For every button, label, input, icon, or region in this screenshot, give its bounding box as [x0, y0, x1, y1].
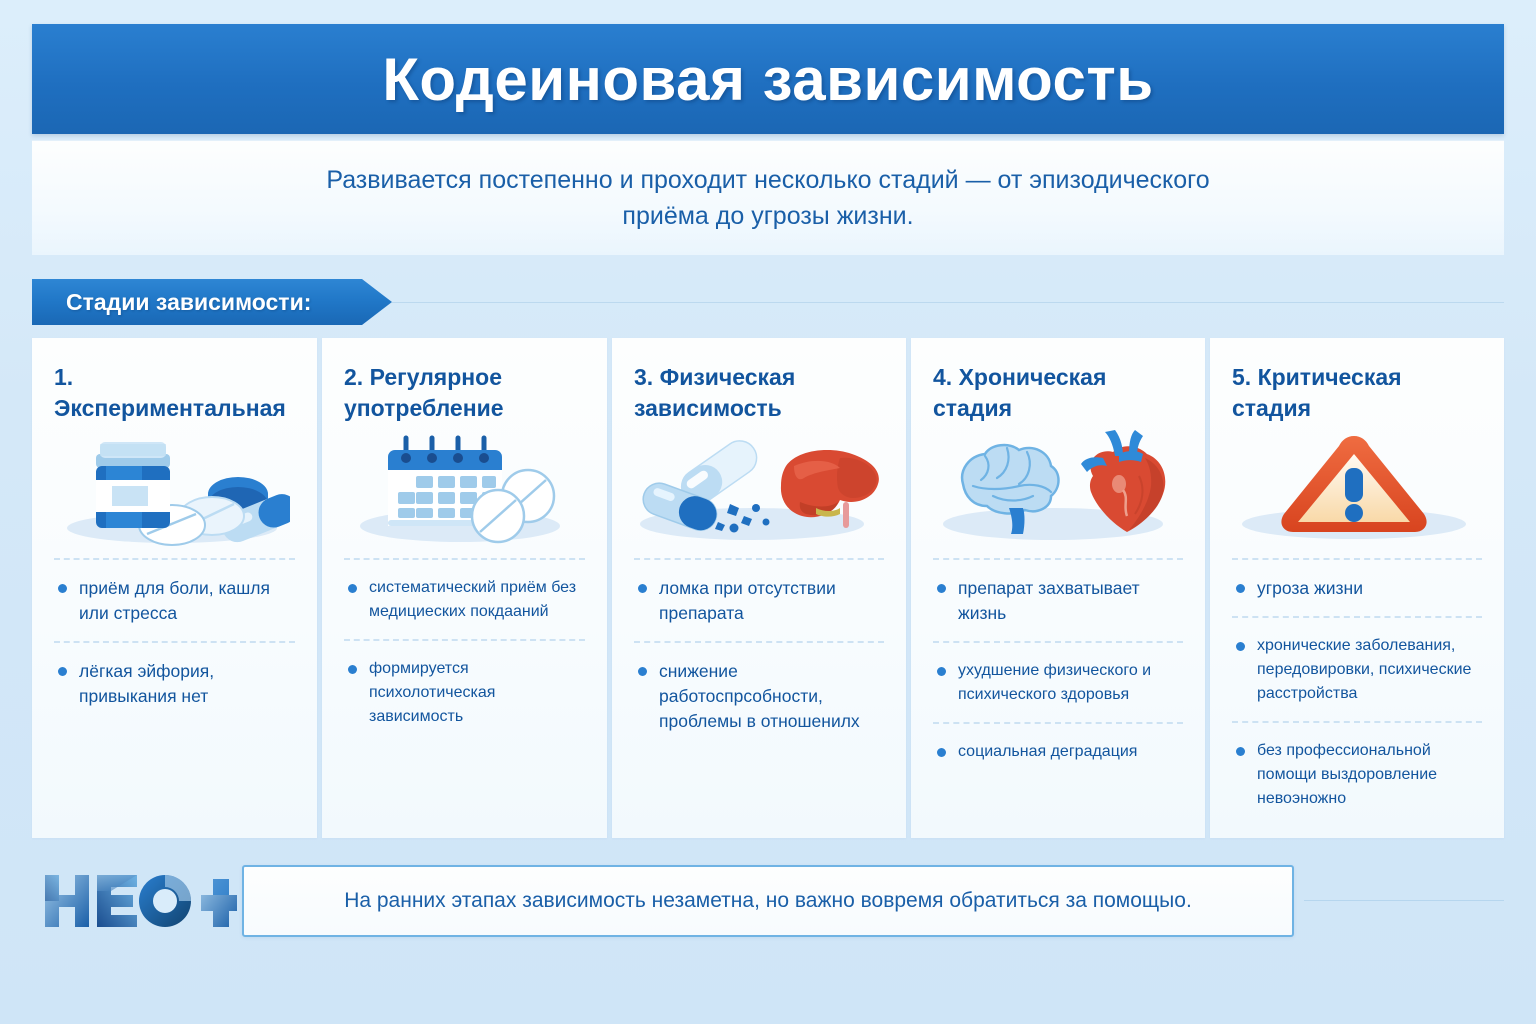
section-tab-container: Стадии зависимости: [32, 279, 1504, 325]
list-item: угроза жизни [1232, 558, 1482, 616]
list-item: систематический приём без медициеских по… [344, 558, 585, 639]
bullet-text: без профессиональной помощи выздоровлени… [1257, 739, 1482, 811]
stages-card-row: 1. Экспериментальная [32, 338, 1504, 838]
pill-bottle-icon [54, 428, 295, 546]
list-item: ухудшение физического и психического здо… [933, 641, 1183, 722]
bullet-dot-icon [937, 748, 946, 757]
bullet-text: формируется психолотическая зависимость [369, 657, 585, 729]
stage-card-3: 3. Физическая зависимость [612, 338, 906, 838]
stage-card-5-bullets: угроза жизни хронические заболевания, пе… [1232, 558, 1482, 826]
stage-card-2-bullets: систематический приём без медициеских по… [344, 558, 585, 744]
footer-note-text: На ранних этапах зависимость незаметна, … [344, 889, 1192, 913]
footer-note-box: На ранних этапах зависимость незаметна, … [242, 865, 1294, 937]
bullet-text: препарат захватывает жизнь [958, 576, 1183, 626]
list-item: социальная деградация [933, 722, 1183, 779]
brand-logo [32, 865, 242, 937]
calendar-pills-icon [344, 428, 585, 546]
neo-plus-logo-icon [37, 865, 237, 937]
list-item: снижение работоспрсобности, проблемы в о… [634, 641, 884, 749]
subtitle-line-1: Развивается постепенно и проходит нескол… [326, 162, 1209, 198]
list-item: ломка при отсутствии препарата [634, 558, 884, 641]
footer: На ранних этапах зависимость незаметна, … [32, 848, 1504, 953]
stage-card-5-title: 5. Критическая стадия [1232, 362, 1482, 424]
subtitle-line-2: приёма до угрозы жизни. [622, 198, 913, 234]
page-title: Кодеиновая зависимость [382, 45, 1153, 114]
stage-card-2-title: 2. Регулярное употребление [344, 362, 585, 424]
bullet-text: угроза жизни [1257, 576, 1363, 601]
bullet-dot-icon [937, 584, 946, 593]
subtitle-panel: Развивается постепенно и проходит нескол… [32, 140, 1504, 255]
bullet-dot-icon [58, 667, 67, 676]
stage-card-2: 2. Регулярное употребление [322, 338, 607, 838]
header-banner: Кодеиновая зависимость [32, 24, 1504, 134]
list-item: лёгкая эйфория, привыкания нет [54, 641, 295, 724]
stage-card-1: 1. Экспериментальная [32, 338, 317, 838]
section-tab-stages: Стадии зависимости: [32, 279, 392, 325]
stage-card-5: 5. Критическая стадия [1210, 338, 1504, 838]
bullet-text: хронические заболевания, передовировки, … [1257, 634, 1482, 706]
bullet-dot-icon [348, 665, 357, 674]
stage-card-3-title: 3. Физическая зависимость [634, 362, 884, 424]
bullet-dot-icon [638, 584, 647, 593]
stage-card-1-bullets: приём для боли, кашля или стресса лёгкая… [54, 558, 295, 724]
list-item: формируется психолотическая зависимость [344, 639, 585, 744]
stage-card-4-bullets: препарат захватывает жизнь ухудшение физ… [933, 558, 1183, 779]
bullet-dot-icon [1236, 642, 1245, 651]
brain-heart-icon [933, 428, 1183, 546]
list-item: препарат захватывает жизнь [933, 558, 1183, 641]
bullet-dot-icon [1236, 584, 1245, 593]
footer-divider-rule [1304, 900, 1504, 901]
list-item: без профессиональной помощи выздоровлени… [1232, 721, 1482, 826]
section-divider-rule [392, 302, 1504, 303]
section-tab-label: Стадии зависимости: [66, 289, 311, 316]
bullet-dot-icon [937, 667, 946, 676]
bullet-text: приём для боли, кашля или стресса [79, 576, 295, 626]
bullet-dot-icon [58, 584, 67, 593]
stage-card-1-title: 1. Экспериментальная [54, 362, 295, 424]
bullet-text: лёгкая эйфория, привыкания нет [79, 659, 295, 709]
bullet-text: ухудшение физического и психического здо… [958, 659, 1183, 707]
bullet-text: снижение работоспрсобности, проблемы в о… [659, 659, 884, 734]
bullet-dot-icon [638, 667, 647, 676]
list-item: хронические заболевания, передовировки, … [1232, 616, 1482, 721]
stage-card-4: 4. Хроническая стадия [911, 338, 1205, 838]
bullet-dot-icon [348, 584, 357, 593]
list-item: приём для боли, кашля или стресса [54, 558, 295, 641]
bullet-dot-icon [1236, 747, 1245, 756]
stage-card-4-title: 4. Хроническая стадия [933, 362, 1183, 424]
bullet-text: социальная деградация [958, 740, 1137, 764]
warning-triangle-icon [1232, 428, 1482, 546]
bullet-text: систематический приём без медициеских по… [369, 576, 585, 624]
stage-card-3-bullets: ломка при отсутствии препарата снижение … [634, 558, 884, 749]
bullet-text: ломка при отсутствии препарата [659, 576, 884, 626]
capsule-liver-icon [634, 428, 884, 546]
